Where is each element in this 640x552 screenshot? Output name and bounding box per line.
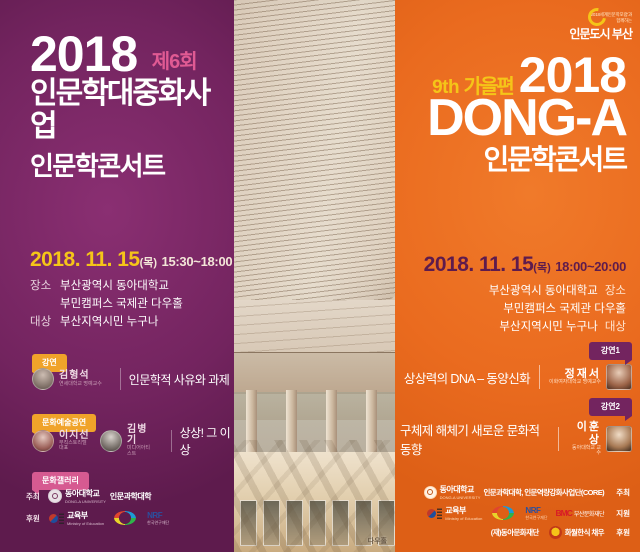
right-support1-en: Ministry of Education	[445, 516, 482, 521]
right-credits-block: 동아대학교 DONG-A UNIVERSITY 인문과학대학, 인문역량강화사업…	[402, 484, 630, 544]
right-audience-value: 부산지역시민 누구나	[499, 321, 597, 333]
right-lecture1-badge-wrap: 강연1	[400, 340, 632, 360]
left-audience-label: 대상	[30, 314, 60, 332]
left-lecture-speaker-affiliation: 연세대학교 명예교수	[59, 382, 102, 387]
right-lecture2-row: 구체제 해체기 새로운 문화적 동향 이훈상 동아대학교 교수	[400, 420, 632, 458]
left-sponsor-label: 후원	[26, 513, 48, 524]
dong-a-university-crest-icon	[48, 489, 62, 503]
right-sponsor1: (재)동아문화재단	[491, 527, 539, 538]
right-lecture1-block: 강연1 상상력의 DNA – 동양신화 정재서 이화여자대학교 명예교수	[400, 340, 632, 390]
hwk-restaurant-icon	[549, 526, 562, 539]
right-host-label: 주최	[610, 487, 630, 498]
busan-logo-main: 인문도시 부산	[502, 25, 632, 42]
ministry-of-education-icon	[426, 507, 442, 520]
left-date: 2018. 11. 15	[30, 248, 140, 271]
right-lecture2-topic: 구체제 해체기 새로운 문화적 동향	[400, 420, 549, 458]
left-performance-speaker1-affiliation: 무직스토리텔 대표	[59, 441, 90, 452]
left-host-name-en: DONG-A UNIVERSITY	[65, 499, 106, 504]
right-lecture1-speaker-affiliation: 이화여자대학교 명예교수	[549, 380, 601, 386]
right-host-dept: 인문과학대학, 인문역량강화사업단(CORE)	[483, 487, 604, 498]
left-weekday: (목)	[140, 257, 157, 269]
right-time: 18:00~20:00	[555, 259, 626, 274]
humanities-city-busan-logo: '2018세계인문학포럼'과 함께하는 인문도시 부산	[502, 12, 632, 42]
right-audience-label: 대상	[605, 321, 626, 333]
left-performance-speaker-1: 이지선 무직스토리텔 대표	[32, 430, 90, 452]
speaker-photo-kim-hyungseok	[32, 368, 54, 390]
left-gallery-badge-wrap: 문화갤러리	[32, 470, 89, 490]
right-lecture1-badge: 강연1	[589, 342, 632, 360]
speaker-photo-lee-jiseon	[32, 430, 54, 452]
left-sponsor1-en: Ministry of Education	[67, 521, 104, 526]
right-date: 2018. 11. 15	[424, 253, 534, 276]
poster-root: 2018 제6회 인문학대중화사업 인문학콘서트 2018. 11. 15(목)…	[0, 0, 640, 552]
right-support1: 교육부	[445, 505, 482, 516]
left-performance-topic: 상상! 그 이상	[180, 424, 234, 458]
right-lecture2-speaker-affiliation: 동아대학교 교수	[568, 446, 601, 457]
right-event-title: 인문학콘서트	[396, 145, 626, 176]
right-support2: NRF	[525, 506, 547, 515]
right-sponsor-label: 후원	[610, 527, 630, 538]
left-performance-row: 이지선 무직스토리텔 대표 김병기 미디어아티스트 상상! 그 이상	[32, 424, 234, 458]
left-credits-block: 주최 동아대학교 DONG-A UNIVERSITY 인문과학대학 후원 교육부…	[26, 488, 169, 532]
photo-caption: 다우홀	[368, 536, 387, 546]
left-sponsor2: NRF	[147, 511, 169, 520]
photo-mid-wall-lines	[234, 300, 395, 360]
right-lecture2-badge-wrap: 강연2	[400, 396, 632, 416]
left-place-line2: 부민캠퍼스 국제관 다우홀	[60, 298, 183, 310]
left-performance-speaker2-affiliation: 미디어아티스트	[127, 446, 153, 457]
right-weekday: (목)	[533, 262, 550, 274]
left-lecture-speaker: 김형석 연세대학교 명예교수	[32, 368, 102, 390]
left-event-title: 인문학콘서트	[30, 151, 234, 182]
left-time: 15:30~18:00	[162, 254, 233, 269]
right-date-bar: 2018. 11. 15(목) 18:00~20:00	[424, 253, 626, 277]
right-info-block: 부산광역시 동아대학교장소 부민캠퍼스 국제관 다우홀 부산지역시민 누구나대상	[489, 283, 626, 336]
left-host-dept: 인문과학대학	[110, 491, 151, 502]
left-program-title: 인문학대중화사업	[30, 77, 234, 143]
left-sponsor1: 교육부	[67, 510, 104, 521]
left-place-label: 장소	[30, 278, 60, 296]
left-performance-speaker2-name: 김병기	[127, 425, 153, 446]
left-performance-speaker-2: 김병기 미디어아티스트	[100, 425, 153, 457]
left-edition-badge: 제6회	[152, 45, 197, 79]
left-info-block: 장소부산광역시 동아대학교 부민캠퍼스 국제관 다우홀 대상부산지역시민 누구나	[30, 278, 183, 331]
left-year: 2018	[30, 30, 137, 79]
photo-canopy	[234, 352, 395, 394]
right-sponsor2: 화월한식 채우	[565, 527, 604, 538]
right-title-block: 9th 가을편 2018 DONG-A 인문학콘서트	[396, 52, 626, 176]
right-lecture2-divider	[558, 427, 559, 451]
left-host-row: 주최 동아대학교 DONG-A UNIVERSITY 인문과학대학	[26, 488, 169, 504]
right-host-row: 동아대학교 DONG-A UNIVERSITY 인문과학대학, 인문역량강화사업…	[402, 484, 630, 500]
right-support3-full: 부산문화재단	[574, 509, 604, 518]
right-lecture1-row: 상상력의 DNA – 동양신화 정재서 이화여자대학교 명예교수	[400, 364, 632, 390]
right-place-line2: 부민캠퍼스 국제관 다우홀	[503, 303, 626, 315]
photo-facade-louvers	[234, 0, 395, 330]
nrf-icon	[492, 506, 522, 520]
left-host-label: 주최	[26, 491, 48, 502]
right-lecture2-block: 강연2 구체제 해체기 새로운 문화적 동향 이훈상 동아대학교 교수	[400, 396, 632, 458]
speaker-photo-lee-hunsang	[606, 426, 632, 452]
left-performance-divider	[171, 430, 172, 452]
left-lecture-row: 김형석 연세대학교 명예교수 인문학적 사유와 과제	[32, 368, 229, 390]
right-host-name: 동아대학교	[440, 484, 481, 495]
right-sponsor-row: (재)동아문화재단 화월한식 채우 후원	[402, 526, 630, 539]
right-support-label: 지원	[610, 508, 630, 519]
right-lecture1-divider	[539, 365, 540, 389]
right-lecture2-badge: 강연2	[589, 398, 632, 416]
right-dong-a-wordmark: DONG-A	[396, 94, 626, 143]
right-lecture2-speaker-name: 이훈상	[568, 421, 601, 445]
left-title-block: 2018 제6회 인문학대중화사업 인문학콘서트	[0, 30, 234, 182]
right-orange-panel: '2018세계인문학포럼'과 함께하는 인문도시 부산 9th 가을편 2018…	[395, 0, 640, 552]
right-place-line1: 부산광역시 동아대학교	[489, 285, 598, 297]
left-lecture-divider	[120, 368, 121, 390]
left-date-bar: 2018. 11. 15(목) 15:30~18:00	[30, 248, 232, 272]
busan-logo-small-line2: 함께하는	[502, 18, 632, 24]
left-sponsor-row: 후원 교육부 Ministry of Education NRF 한국연구재단	[26, 510, 169, 526]
left-lecture-topic: 인문학적 사유와 과제	[129, 371, 230, 388]
center-building-photo: 다우홀	[234, 0, 395, 552]
left-audience-value: 부산지역시민 누구나	[60, 316, 158, 328]
speaker-photo-kim-byeonggi	[100, 430, 122, 452]
nrf-icon	[114, 511, 144, 525]
left-place-line1: 부산광역시 동아대학교	[60, 280, 169, 292]
right-lecture1-topic: 상상력의 DNA – 동양신화	[404, 368, 530, 387]
left-sponsor2-full: 한국연구재단	[147, 520, 169, 526]
speaker-photo-jung-jaeseo	[606, 364, 632, 390]
right-support-row: 교육부 Ministry of Education NRF 한국연구재단 BMC…	[402, 505, 630, 521]
right-support2-full: 한국연구재단	[525, 515, 547, 521]
busan-cultural-foundation-icon: BMC	[556, 508, 572, 518]
left-host-name: 동아대학교	[65, 488, 106, 499]
right-host-name-en: DONG-A UNIVERSITY	[440, 495, 481, 500]
left-purple-panel: 2018 제6회 인문학대중화사업 인문학콘서트 2018. 11. 15(목)…	[0, 0, 234, 552]
ministry-of-education-icon	[48, 512, 64, 525]
dong-a-university-crest-icon	[424, 486, 437, 499]
right-place-label: 장소	[605, 285, 626, 297]
